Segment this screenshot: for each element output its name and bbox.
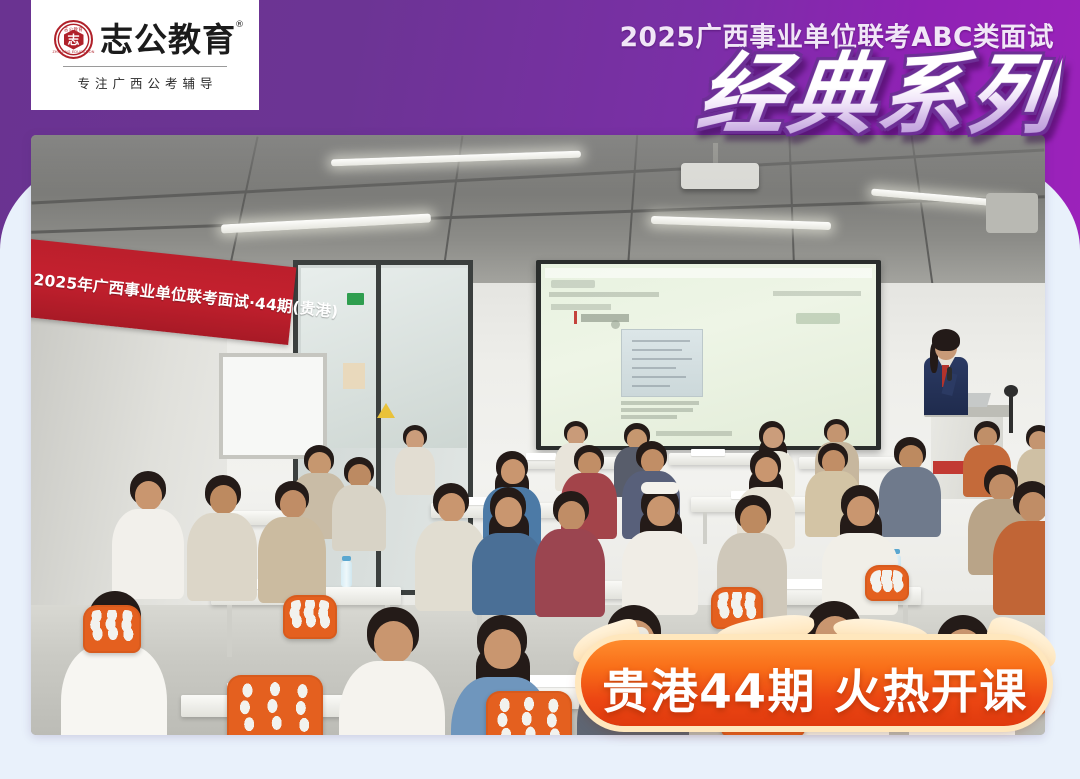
poster-root: 志公教育 志 ZHIGONG EDUCATION 志公教育 ® 专注广西公考辅导…: [0, 0, 1080, 779]
screen-section-marker: [574, 311, 577, 324]
caution-sign-icon: [377, 403, 395, 418]
instructor-microphone: [947, 367, 952, 381]
company-seal-icon: 志公教育 志 ZHIGONG EDUCATION: [54, 20, 93, 59]
screen-document-image: [621, 329, 703, 397]
brand-logo-row: 志公教育 志 ZHIGONG EDUCATION 志公教育 ®: [54, 20, 236, 59]
footer-ribbon: 贵港44期 火热开课: [565, 618, 1065, 748]
brand-tagline: 专注广西公考辅导: [72, 73, 217, 92]
screen-toolbar-right: [773, 291, 861, 296]
whiteboard: [219, 353, 327, 459]
chair: [283, 595, 337, 639]
exit-sign-icon: [347, 293, 364, 305]
screen-caption-line-2: [621, 408, 693, 412]
screen-browser-toolbar: [545, 268, 872, 278]
page-title: 经典系列: [692, 48, 1063, 141]
wall-poster: [343, 363, 365, 389]
screen-breadcrumb: [551, 304, 611, 310]
mic-head-icon: [1004, 385, 1018, 397]
brand-name: 志公教育 ®: [100, 23, 236, 56]
chair: [486, 691, 572, 735]
seal-top-text: 志公教育: [64, 27, 83, 33]
mic-stand: [1009, 393, 1013, 433]
screen-footer-bar: [656, 431, 732, 436]
brand-name-text: 志公教育: [100, 20, 236, 59]
chair: [227, 675, 323, 735]
projector-mount: [713, 143, 718, 165]
screen-caption-line-1: [621, 401, 699, 405]
registered-mark: ®: [235, 21, 245, 30]
screen-url-bar: [549, 292, 659, 297]
water-bottle: [341, 561, 352, 587]
seal-center-char: 志: [67, 34, 79, 46]
wall-banner-text: 2025年广西事业单位联考面试·44期(贵港): [33, 268, 292, 317]
chair: [865, 565, 909, 601]
logo-divider: [63, 66, 227, 67]
footer-ribbon-text: 贵港44期 火热开课: [565, 618, 1065, 748]
brand-logo-card: 志公教育 志 ZHIGONG EDUCATION 志公教育 ® 专注广西公考辅导: [31, 0, 259, 110]
screen-caption-line-3: [621, 415, 677, 419]
desk-paper: [691, 449, 725, 456]
screen-section-title: [581, 314, 629, 322]
chair: [83, 605, 141, 653]
screen-action-button: [796, 313, 840, 324]
screen-avatar-icon: [611, 320, 620, 329]
seal-bottom-text: ZHIGONG EDUCATION: [52, 50, 94, 54]
screen-browser-tab: [551, 280, 595, 288]
instructor-hair: [932, 329, 960, 351]
desk-paper: [526, 453, 556, 460]
wall-ac-unit: [986, 193, 1038, 233]
ceiling-projector: [681, 163, 759, 189]
